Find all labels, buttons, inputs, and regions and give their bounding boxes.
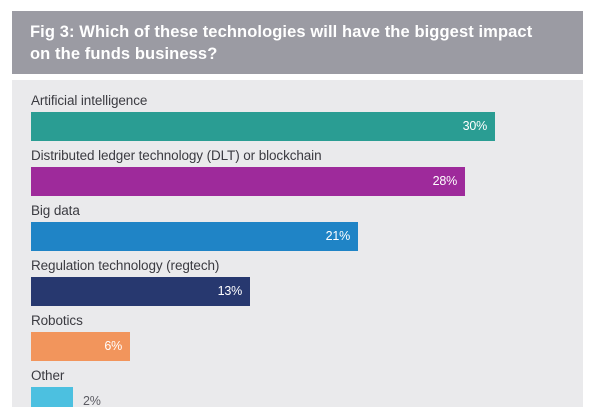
bar-other[interactable] xyxy=(31,387,73,407)
figure-container: Fig 3: Which of these technologies will … xyxy=(0,0,600,407)
bar-value-label: 28% xyxy=(433,167,457,196)
bar-group-other: Other 2% xyxy=(31,367,571,407)
bar-track: 13% xyxy=(31,277,571,306)
bar-category-label: Distributed ledger technology (DLT) or b… xyxy=(31,147,571,164)
bar-value-label: 13% xyxy=(218,277,242,306)
bar-category-label: Other xyxy=(31,367,571,384)
bar-robotics[interactable]: 6% xyxy=(31,332,130,361)
bar-chart-plot-area: Artificial intelligence 30% Distributed … xyxy=(12,80,583,407)
bar-group-dlt-blockchain: Distributed ledger technology (DLT) or b… xyxy=(31,147,571,196)
bar-dlt-blockchain[interactable]: 28% xyxy=(31,167,465,196)
bar-value-label: 21% xyxy=(326,222,350,251)
bar-group-regtech: Regulation technology (regtech) 13% xyxy=(31,257,571,306)
bar-category-label: Big data xyxy=(31,202,571,219)
bar-track: 2% xyxy=(31,387,571,407)
bar-category-label: Artificial intelligence xyxy=(31,92,571,109)
bar-value-label: 30% xyxy=(463,112,487,141)
bar-artificial-intelligence[interactable]: 30% xyxy=(31,112,495,141)
figure-header-band: Fig 3: Which of these technologies will … xyxy=(12,11,583,74)
bar-value-label: 6% xyxy=(104,332,122,361)
bar-track: 30% xyxy=(31,112,571,141)
bar-group-artificial-intelligence: Artificial intelligence 30% xyxy=(31,92,571,141)
bar-category-label: Robotics xyxy=(31,312,571,329)
bar-track: 21% xyxy=(31,222,571,251)
bar-big-data[interactable]: 21% xyxy=(31,222,358,251)
figure-title: Fig 3: Which of these technologies will … xyxy=(30,22,565,66)
bar-group-big-data: Big data 21% xyxy=(31,202,571,251)
bar-value-label: 2% xyxy=(73,387,101,407)
bar-category-label: Regulation technology (regtech) xyxy=(31,257,571,274)
bar-track: 6% xyxy=(31,332,571,361)
bar-group-robotics: Robotics 6% xyxy=(31,312,571,361)
bar-track: 28% xyxy=(31,167,571,196)
bar-regtech[interactable]: 13% xyxy=(31,277,250,306)
